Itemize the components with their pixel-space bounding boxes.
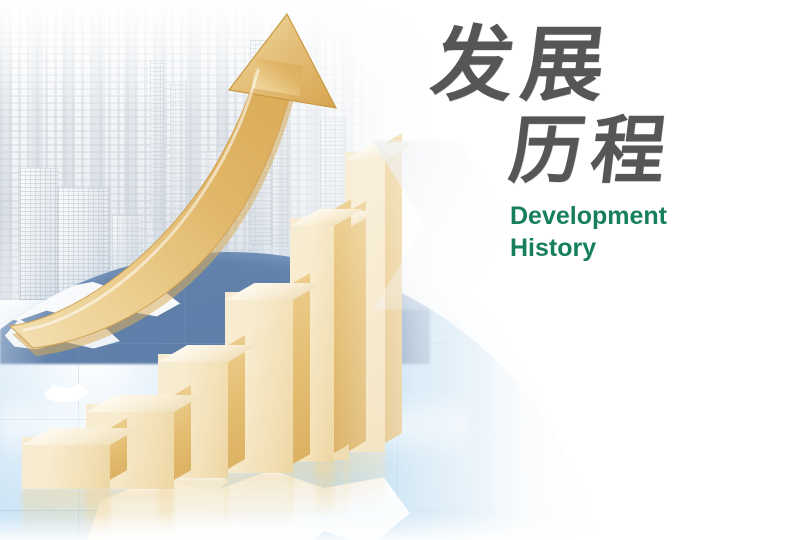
bar-chart-graphic — [0, 0, 430, 540]
title-english-line2: History — [510, 232, 760, 264]
bar-reflection — [22, 489, 110, 540]
bar-reflection — [225, 473, 293, 531]
title-english-line1: Development — [510, 200, 760, 232]
bar-side-face — [334, 199, 351, 453]
title-english: Development History — [510, 200, 760, 264]
bar-reflection — [290, 462, 334, 520]
bar-side-face — [349, 201, 366, 451]
title-chinese-line1: 发展 — [427, 24, 765, 106]
bar-1 — [22, 437, 110, 489]
banner-image: 发展 历程 Development History — [0, 0, 800, 540]
title-chinese-line2: 历程 — [505, 114, 764, 188]
bar-side-face — [293, 273, 310, 464]
title-block: 发展 历程 Development History — [430, 24, 760, 264]
bar-reflection — [345, 452, 385, 510]
